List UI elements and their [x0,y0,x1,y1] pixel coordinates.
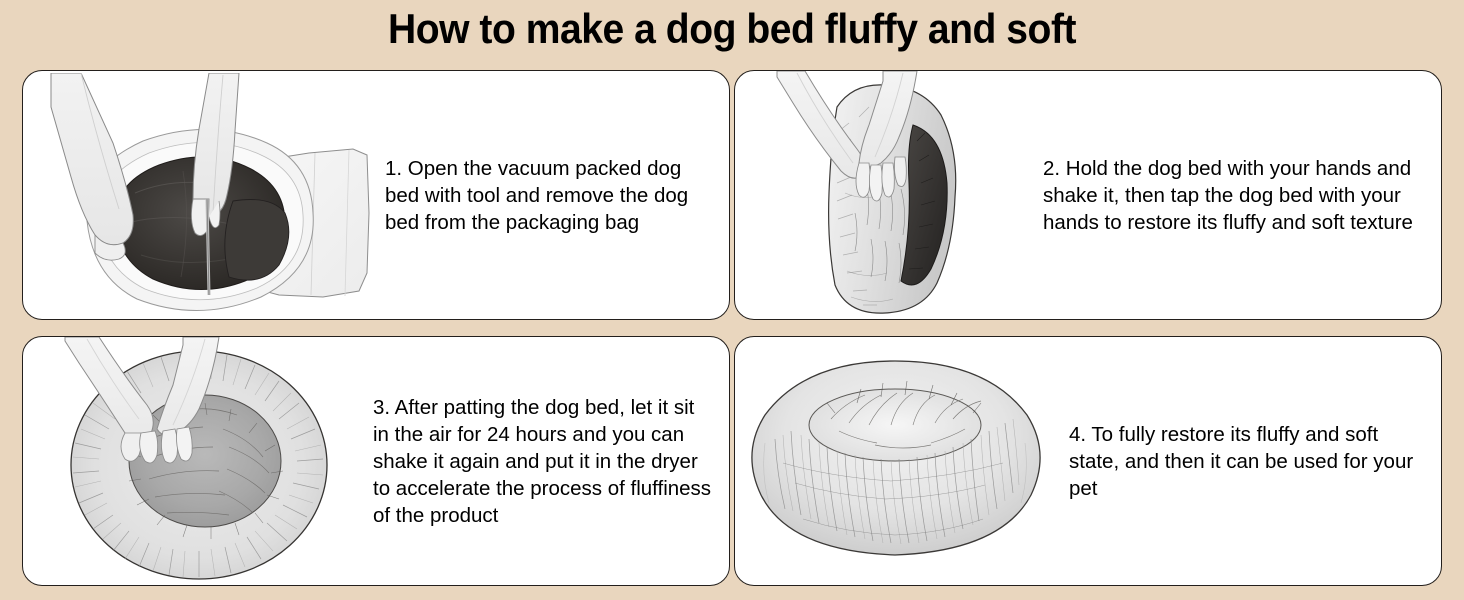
steps-grid: 1. Open the vacuum packed dog bed with t… [22,70,1442,586]
step-panel-3: 3. After patting the dog bed, let it sit… [22,336,730,586]
step-panel-2: 2. Hold the dog bed with your hands and … [734,70,1442,320]
step-1-text: 1. Open the vacuum packed dog bed with t… [373,155,729,236]
step-2-text: 2. Hold the dog bed with your hands and … [1035,155,1441,236]
illustration-hands-opening-vacuum-packed-dog-bed [23,71,373,319]
illustration-finished-fluffy-donut-dog-bed [735,337,1055,585]
page-title: How to make a dog bed fluffy and soft [51,0,1413,62]
step-panel-1: 1. Open the vacuum packed dog bed with t… [22,70,730,320]
illustration-hands-holding-and-shaking-dog-bed [735,71,1035,319]
step-panel-4: 4. To fully restore its fluffy and soft … [734,336,1442,586]
illustration-hands-patting-round-dog-bed [23,337,363,585]
step-4-text: 4. To fully restore its fluffy and soft … [1055,421,1441,502]
infographic-root: How to make a dog bed fluffy and soft [0,0,1464,600]
step-3-text: 3. After patting the dog bed, let it sit… [363,394,729,529]
